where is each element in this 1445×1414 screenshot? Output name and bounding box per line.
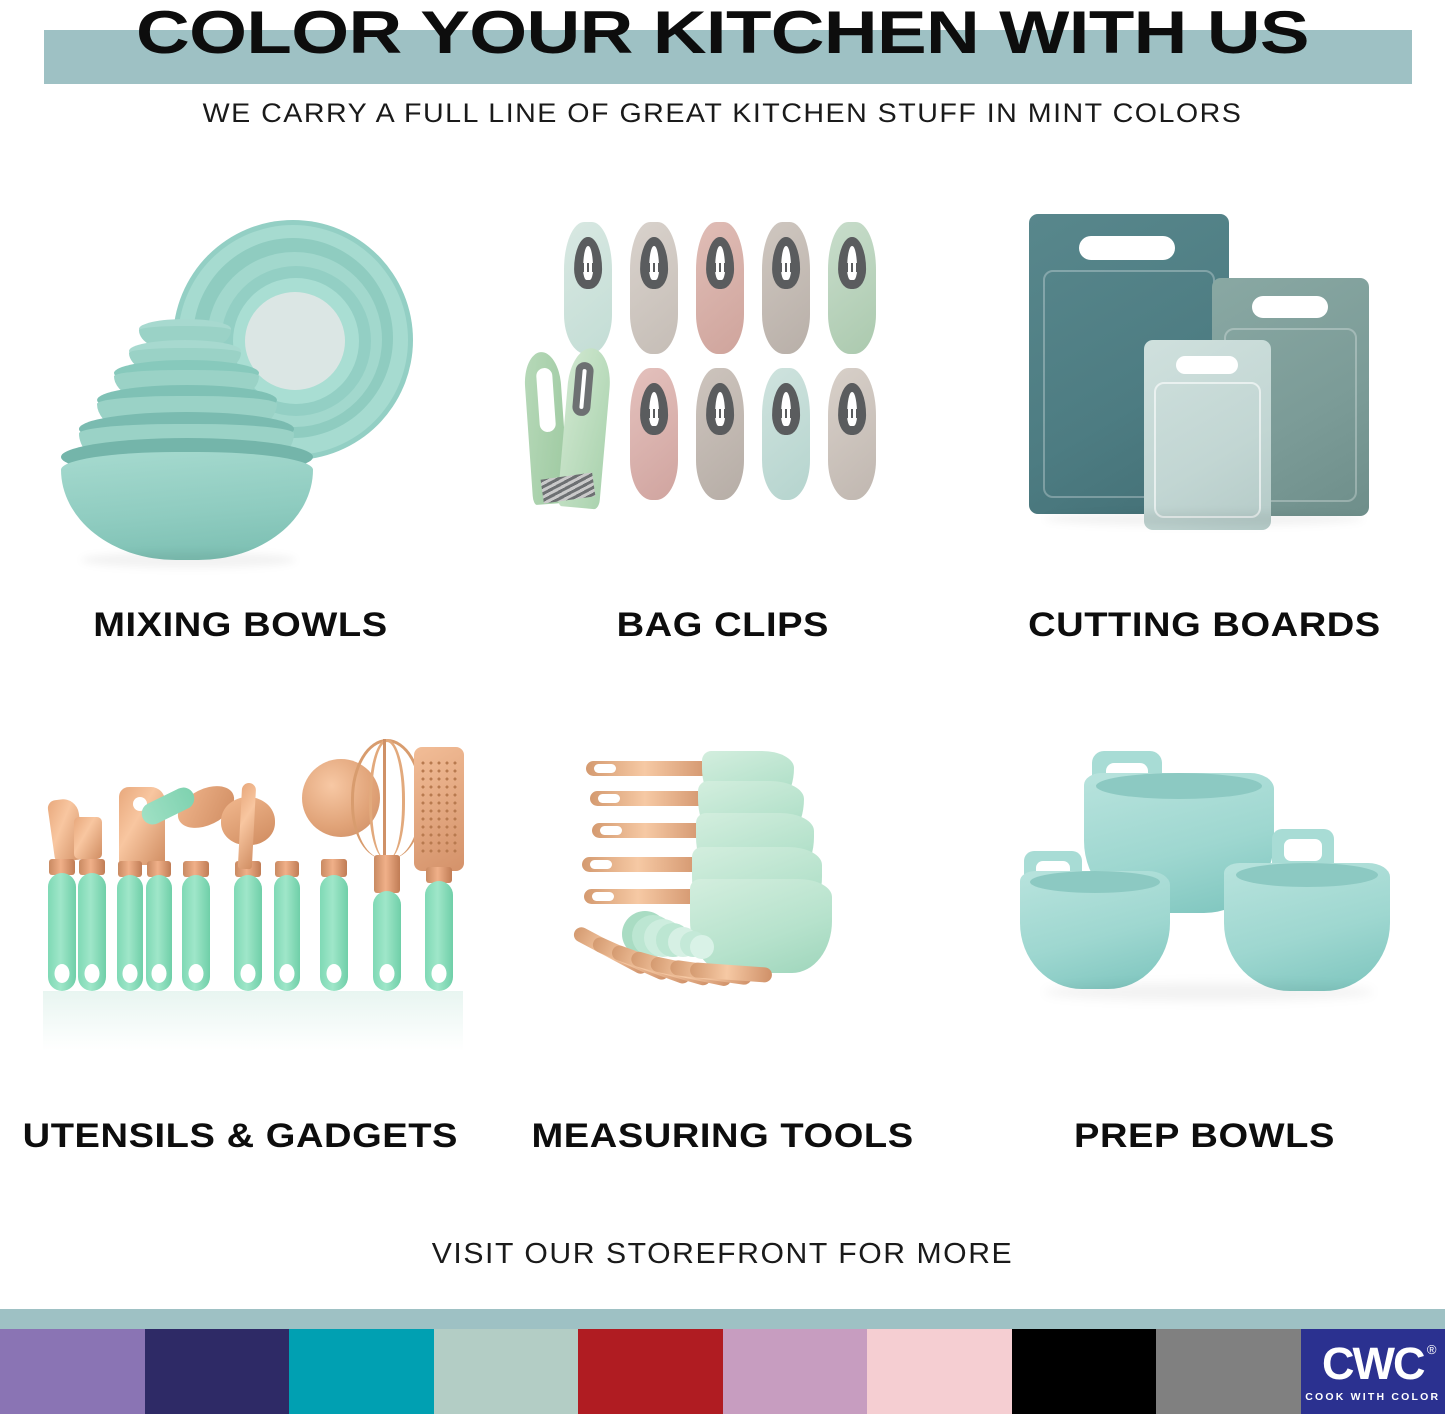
bag-clip bbox=[828, 368, 876, 500]
bag-clip bbox=[696, 368, 744, 500]
bag-clip bbox=[828, 222, 876, 354]
utensil-handle bbox=[117, 875, 143, 991]
cutting-boards-image bbox=[984, 200, 1424, 600]
utensil-handle bbox=[182, 875, 210, 991]
page-title: COLOR YOUR KITCHEN WITH US bbox=[0, 0, 1445, 67]
category-label: MEASURING TOOLS bbox=[531, 1117, 913, 1156]
utensil-handle bbox=[425, 881, 453, 991]
category-label: BAG CLIPS bbox=[616, 606, 828, 645]
brand-logo[interactable]: CWC® COOK WITH COLOR bbox=[1301, 1329, 1445, 1414]
bag-clip bbox=[762, 222, 810, 354]
footer-accent-strip bbox=[0, 1309, 1445, 1329]
color-swatch-blush-pink bbox=[867, 1329, 1012, 1414]
color-swatch-black bbox=[1012, 1329, 1157, 1414]
color-swatch-navy bbox=[145, 1329, 290, 1414]
utensil-handle bbox=[234, 875, 262, 991]
mixing-bowls-image bbox=[21, 200, 461, 600]
page-subtitle: WE CARRY A FULL LINE OF GREAT KITCHEN ST… bbox=[0, 98, 1445, 129]
category-card-utensils-gadgets[interactable]: UTENSILS & GADGETS bbox=[0, 711, 482, 1156]
logo-tagline: COOK WITH COLOR bbox=[1305, 1391, 1440, 1403]
bag-clip bbox=[696, 222, 744, 354]
logo-mark: CWC® bbox=[1322, 1341, 1423, 1386]
bag-clips-image bbox=[502, 200, 942, 600]
utensil-handle bbox=[320, 875, 348, 991]
utensil-handle bbox=[146, 875, 172, 991]
category-label: UTENSILS & GADGETS bbox=[23, 1117, 458, 1156]
color-swatch-orchid bbox=[723, 1329, 868, 1414]
bag-clip bbox=[762, 368, 810, 500]
category-label: CUTTING BOARDS bbox=[1028, 606, 1381, 645]
category-card-mixing-bowls[interactable]: MIXING BOWLS bbox=[0, 200, 482, 645]
category-card-bag-clips[interactable]: BAG CLIPS bbox=[482, 200, 964, 645]
color-swatch-strip: CWC® COOK WITH COLOR bbox=[0, 1329, 1445, 1414]
category-card-measuring-tools[interactable]: MEASURING TOOLS bbox=[482, 711, 964, 1156]
cutting-board-small bbox=[1144, 340, 1271, 530]
promo-banner: COLOR YOUR KITCHEN WITH US WE CARRY A FU… bbox=[0, 0, 1445, 1414]
color-swatch-sage bbox=[434, 1329, 579, 1414]
color-swatch-red bbox=[578, 1329, 723, 1414]
category-card-prep-bowls[interactable]: PREP BOWLS bbox=[963, 711, 1445, 1156]
utensil-handle bbox=[78, 873, 106, 991]
measuring-tools-image bbox=[502, 711, 942, 1111]
storefront-cta[interactable]: VISIT OUR STOREFRONT FOR MORE bbox=[0, 1238, 1445, 1271]
utensil-handle bbox=[274, 875, 300, 991]
color-swatch-teal bbox=[289, 1329, 434, 1414]
utensil-handle bbox=[373, 891, 401, 991]
color-swatch-purple bbox=[0, 1329, 145, 1414]
category-label: PREP BOWLS bbox=[1074, 1117, 1335, 1156]
utensils-gadgets-image bbox=[21, 711, 461, 1111]
category-row-2: UTENSILS & GADGETS bbox=[0, 711, 1445, 1156]
color-swatch-gray bbox=[1156, 1329, 1301, 1414]
category-card-cutting-boards[interactable]: CUTTING BOARDS bbox=[963, 200, 1445, 645]
bag-clip bbox=[630, 368, 678, 500]
prep-bowls-image bbox=[984, 711, 1424, 1111]
registered-trademark-icon: ® bbox=[1427, 1343, 1437, 1356]
logo-mark-text: CWC bbox=[1322, 1338, 1423, 1389]
category-grid: MIXING BOWLS bbox=[0, 200, 1445, 1156]
bag-clip bbox=[630, 222, 678, 354]
utensil-handle bbox=[48, 873, 76, 991]
category-label: MIXING BOWLS bbox=[94, 606, 388, 645]
bag-clip bbox=[564, 222, 612, 354]
category-row-1: MIXING BOWLS bbox=[0, 200, 1445, 645]
